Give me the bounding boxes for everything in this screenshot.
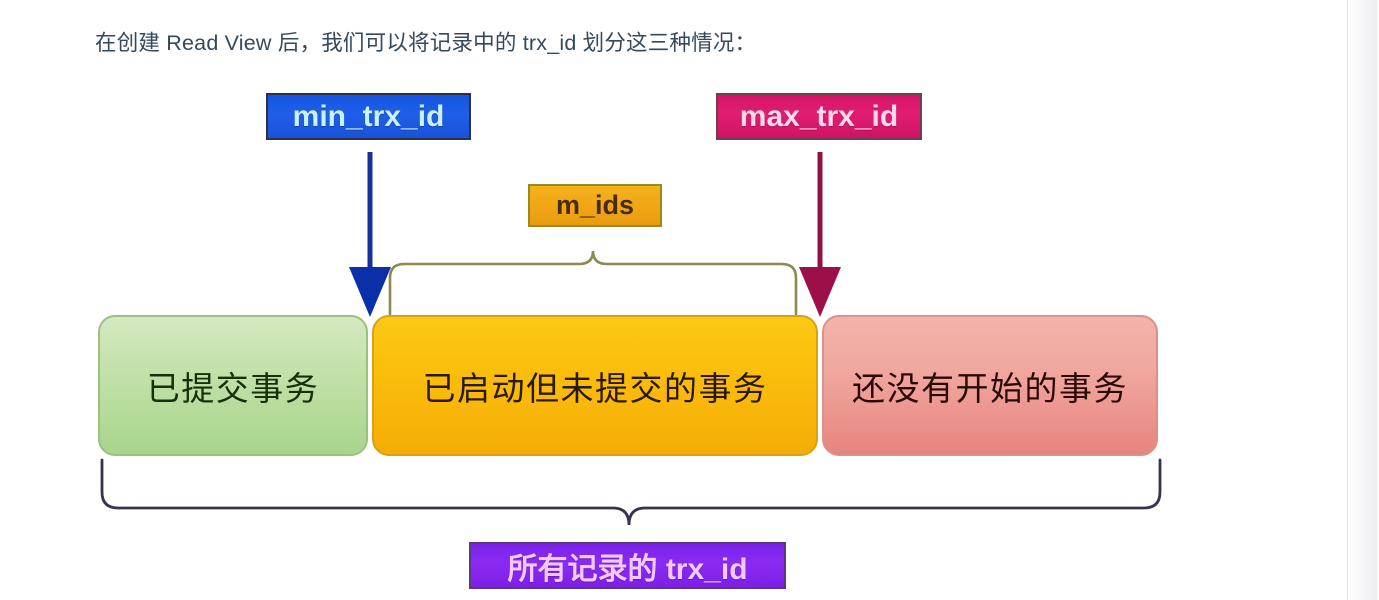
- label-min-trx-id-text: min_trx_id: [293, 100, 445, 134]
- box-active-uncommitted-transactions: 已启动但未提交的事务: [372, 315, 818, 456]
- label-m-ids: m_ids: [528, 184, 662, 227]
- box-committed-transactions-label: 已提交事务: [147, 362, 320, 410]
- label-all-record-trx-id-text: 所有记录的 trx_id: [507, 544, 747, 588]
- label-m-ids-text: m_ids: [556, 190, 634, 221]
- box-future-transactions: 还没有开始的事务: [822, 315, 1158, 456]
- box-active-uncommitted-transactions-label: 已启动但未提交的事务: [423, 362, 768, 410]
- page-heading: 在创建 Read View 后，我们可以将记录中的 trx_id 划分这三种情况…: [95, 29, 756, 58]
- brace-m-ids-icon: [376, 246, 816, 316]
- label-min-trx-id: min_trx_id: [266, 93, 471, 140]
- diagram-canvas: 在创建 Read View 后，我们可以将记录中的 trx_id 划分这三种情况…: [0, 0, 1379, 600]
- label-all-record-trx-id: 所有记录的 trx_id: [469, 542, 786, 589]
- box-future-transactions-label: 还没有开始的事务: [852, 362, 1128, 410]
- label-max-trx-id: max_trx_id: [716, 93, 922, 140]
- page-edge-shadow: [1345, 0, 1379, 600]
- box-committed-transactions: 已提交事务: [98, 315, 368, 456]
- brace-all-trx-id-icon: [92, 458, 1170, 528]
- page-edge-line: [1347, 0, 1348, 600]
- label-max-trx-id-text: max_trx_id: [740, 100, 898, 134]
